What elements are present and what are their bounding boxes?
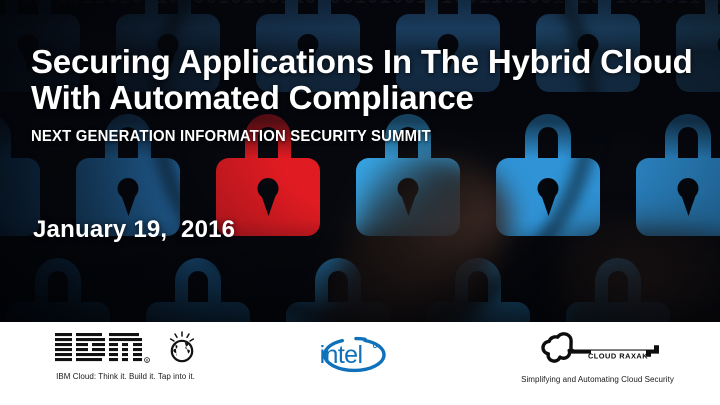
- text-layer: Securing Applications In The Hybrid Clou…: [0, 0, 720, 322]
- ibm-wordmark-icon: R: [55, 331, 159, 365]
- event-subtitle: NEXT GENERATION INFORMATION SECURITY SUM…: [31, 128, 431, 146]
- intel-wordmark-icon: intel: [291, 332, 395, 378]
- event-date: January 19, 2016: [33, 216, 235, 244]
- intel-wordmark-text: intel: [320, 341, 363, 369]
- intel-logo-wrap: intel: [268, 332, 418, 378]
- title-line-2: With Automated Compliance: [31, 80, 691, 116]
- ibm-logo-row: R: [18, 330, 233, 366]
- ibm-tagline: IBM Cloud: Think it. Build it. Tap into …: [18, 372, 233, 381]
- ibm-logo-block: R IBM Cloud: Think it. Build it. Tap int: [18, 330, 233, 381]
- intel-logo-block: intel: [268, 332, 418, 378]
- raxak-tagline: Simplifying and Automating Cloud Securit…: [490, 375, 705, 384]
- raxak-logo-row: CLOUD RAXAK: [490, 330, 705, 368]
- sponsor-footer: R IBM Cloud: Think it. Build it. Tap int: [0, 322, 720, 405]
- raxak-wordmark-text: CLOUD RAXAK: [587, 351, 647, 360]
- page-title: Securing Applications In The Hybrid Clou…: [31, 44, 691, 116]
- cloud-key-icon: CLOUD RAXAK: [533, 330, 663, 368]
- globe-icon: [167, 331, 197, 365]
- raxak-logo-block: CLOUD RAXAK Simplifying and Automating C…: [490, 330, 705, 384]
- title-line-1: Securing Applications In The Hybrid Clou…: [31, 44, 691, 80]
- presentation-slide: 0100101001101001010010100110100101001010…: [0, 0, 720, 405]
